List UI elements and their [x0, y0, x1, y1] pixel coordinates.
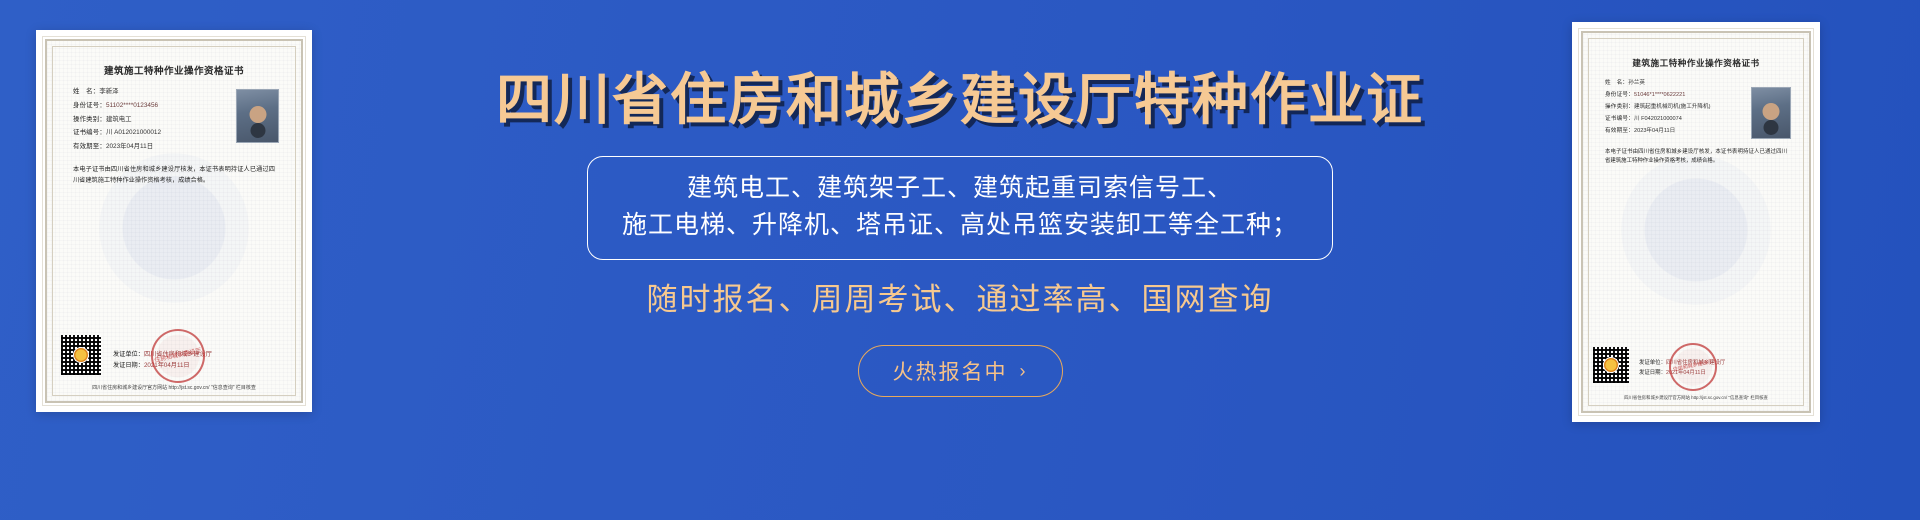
certificate-right-bottom: 发证单位：四川省住房和城乡建设厅 发证日期：2021年04月11日 住房和城乡建… — [1593, 347, 1799, 383]
field-label: 身份证号： — [1605, 92, 1634, 98]
field-value: 川 A012021000012 — [106, 129, 161, 136]
field-value: 李新泽 — [99, 88, 118, 95]
certificate-left-title: 建筑施工特种作业操作资格证书 — [59, 63, 289, 77]
certificate-left-fields: 姓 名：李新泽 身份证号：51102****0123456 操作类别：建筑电工 … — [73, 87, 223, 151]
field-value: 孙兰英 — [1628, 80, 1645, 86]
promo-banner: 建筑施工特种作业操作资格证书 姓 名：李新泽 身份证号：51102****012… — [0, 0, 1920, 520]
field-value: 川 F042021000074 — [1634, 116, 1682, 122]
scope-line-1: 建筑电工、建筑架子工、建筑起重司索信号工、 — [622, 170, 1298, 207]
certificate-right-photo — [1751, 87, 1791, 139]
official-seal-icon: 住房和城乡建设厅 — [146, 324, 210, 388]
field-label: 操作类别： — [73, 116, 106, 123]
certificate-field-row: 身份证号：51102****0123456 — [73, 101, 223, 110]
field-value: 2023年04月11日 — [106, 143, 153, 150]
field-value: 2023年04月11日 — [1634, 128, 1675, 134]
field-label: 证书编号： — [1605, 116, 1634, 122]
certificate-left-photo — [236, 89, 279, 143]
page-title: 四川省住房和城乡建设厅特种作业证 — [496, 72, 1424, 128]
field-value: 建筑起重机械司机(施工升降机) — [1634, 104, 1710, 110]
field-label: 有效期至： — [1605, 128, 1634, 134]
certificate-right-inner: 建筑施工特种作业操作资格证书 姓 名：孙兰英 身份证号：51046*1****0… — [1581, 31, 1811, 413]
certificate-left-body: 本电子证书由四川省住房和城乡建设厅核发，本证书表明持证人已通过四川省建筑施工特种… — [73, 165, 275, 187]
certificate-right-title: 建筑施工特种作业操作资格证书 — [1595, 57, 1797, 69]
certificate-left-bottom: 发证单位：四川省住房和城乡建设厅 发证日期：2021年04月11日 住房和城乡建… — [61, 335, 289, 375]
field-label: 姓 名： — [1605, 80, 1628, 86]
certificate-card-left: 建筑施工特种作业操作资格证书 姓 名：李新泽 身份证号：51102****012… — [36, 30, 312, 412]
certificate-left-inner: 建筑施工特种作业操作资格证书 姓 名：李新泽 身份证号：51102****012… — [45, 39, 303, 403]
field-label: 证书编号： — [73, 129, 106, 136]
certificate-field-row: 有效期至：2023年04月11日 — [1605, 127, 1743, 135]
certificate-left-issue: 发证单位：四川省住房和城乡建设厅 发证日期：2021年04月11日 住房和城乡建… — [113, 335, 212, 371]
certificate-watermark-icon — [1621, 155, 1771, 305]
certificate-right-issue: 发证单位：四川省住房和城乡建设厅 发证日期：2021年04月11日 住房和城乡建… — [1639, 347, 1725, 378]
issue-date-label: 发证日期： — [1639, 370, 1666, 376]
enroll-button[interactable]: 火热报名中 › — [858, 345, 1063, 397]
field-value: 51046*1****0622221 — [1634, 92, 1685, 98]
enroll-button-label: 火热报名中 — [893, 356, 1008, 386]
field-value: 51102****0123456 — [106, 102, 158, 109]
banner-center-content: 四川省住房和城乡建设厅特种作业证 建筑电工、建筑架子工、建筑起重司索信号工、 施… — [360, 0, 1560, 520]
scope-line-2: 施工电梯、升降机、塔吊证、高处吊篮安装卸工等全工种； — [622, 207, 1298, 244]
certificate-right-body: 本电子证书由四川省住房和城乡建设厅核发，本证书表明持证人已通过四川省建筑施工特种… — [1605, 148, 1787, 167]
certificate-left-footer: 四川省住房和城乡建设厅官方网站 http://jst.sc.gov.cn/ "信… — [59, 384, 289, 391]
slogan-text: 随时报名、周周考试、通过率高、国网查询 — [647, 284, 1274, 315]
field-label: 身份证号： — [73, 102, 106, 109]
certificate-field-row: 操作类别：建筑起重机械司机(施工升降机) — [1605, 103, 1743, 111]
certificate-field-row: 姓 名：李新泽 — [73, 87, 223, 96]
scope-info-box: 建筑电工、建筑架子工、建筑起重司索信号工、 施工电梯、升降机、塔吊证、高处吊篮安… — [587, 156, 1333, 260]
certificate-field-row: 操作类别：建筑电工 — [73, 115, 223, 124]
certificate-field-row: 身份证号：51046*1****0622221 — [1605, 91, 1743, 99]
chevron-right-icon: › — [1020, 362, 1028, 380]
issue-org-label: 发证单位： — [1639, 360, 1666, 366]
qr-code-icon — [61, 335, 101, 375]
certificate-card-right: 建筑施工特种作业操作资格证书 姓 名：孙兰英 身份证号：51046*1****0… — [1572, 22, 1820, 422]
certificate-field-row: 有效期至：2023年04月11日 — [73, 142, 223, 151]
field-label: 姓 名： — [73, 88, 99, 95]
certificate-field-row: 姓 名：孙兰英 — [1605, 79, 1743, 87]
qr-code-icon — [1593, 347, 1629, 383]
certificate-right-fields: 姓 名：孙兰英 身份证号：51046*1****0622221 操作类别：建筑起… — [1605, 79, 1743, 136]
field-label: 操作类别： — [1605, 104, 1634, 110]
field-value: 建筑电工 — [106, 116, 132, 123]
field-label: 有效期至： — [73, 143, 106, 150]
official-seal-icon: 住房和城乡建设厅 — [1665, 339, 1722, 396]
issue-date-label: 发证日期： — [113, 362, 144, 369]
certificate-field-row: 证书编号：川 A012021000012 — [73, 128, 223, 137]
certificate-field-row: 证书编号：川 F042021000074 — [1605, 115, 1743, 123]
issue-org-label: 发证单位： — [113, 351, 144, 358]
certificate-right-footer: 四川省住房和城乡建设厅官方网站 http://jst.sc.gov.cn/ "信… — [1595, 395, 1797, 401]
